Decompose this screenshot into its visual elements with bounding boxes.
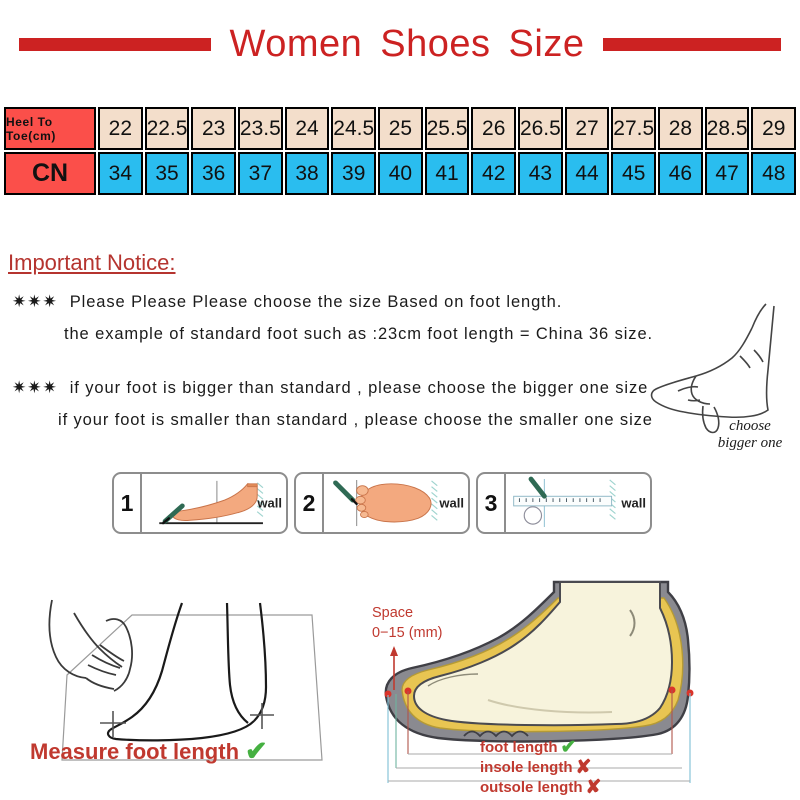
cell-cn-6: 40: [378, 152, 423, 195]
length-labels: foot length ✔ insole length ✘ outsole le…: [480, 738, 601, 798]
cell-cn-0: 34: [98, 152, 143, 195]
notice-line-1: ✷✷✷Please Please Please choose the size …: [12, 292, 653, 312]
measure-caption-text: Measure foot length: [30, 739, 239, 765]
cell-cn-11: 45: [611, 152, 656, 195]
label-foot-length-text: foot length: [480, 738, 557, 758]
label-outsole-length: outsole length ✘: [480, 778, 601, 798]
wall-label-1: wall: [257, 496, 282, 511]
cell-cm-1: 22.5: [145, 107, 190, 150]
cell-cm-12: 28: [658, 107, 703, 150]
cell-cn-10: 44: [565, 152, 610, 195]
space-label-line-2: 0−15 (mm): [372, 624, 443, 644]
notice-block-2: ✷✷✷if your foot is bigger than standard …: [12, 378, 653, 430]
step-number-3: 3: [478, 474, 506, 532]
cross-icon: ✘: [576, 758, 592, 777]
cell-cn-2: 36: [191, 152, 236, 195]
cell-cm-9: 26.5: [518, 107, 563, 150]
cell-cn-13: 47: [705, 152, 750, 195]
notice-line-4: if your foot is smaller than standard , …: [58, 411, 653, 430]
cell-cm-2: 23: [191, 107, 236, 150]
title-rule-left: [19, 38, 211, 51]
cell-cm-5: 24.5: [331, 107, 376, 150]
cell-cn-4: 38: [285, 152, 330, 195]
page-title-text: WomenShoesSize: [221, 23, 594, 66]
cell-cm-8: 26: [471, 107, 516, 150]
notice-text-3: if your foot is bigger than standard , p…: [70, 379, 648, 397]
step-number-2: 2: [296, 474, 324, 532]
foot-caption-line-1: choose: [690, 418, 800, 435]
foot-caption-line-2: bigger one: [690, 435, 800, 452]
title-word-2: Shoes: [380, 23, 490, 65]
label-insole-length-text: insole length: [480, 758, 573, 778]
row-label-cn: CN: [4, 152, 96, 195]
step-number-1: 1: [114, 474, 142, 532]
step-panel-1: 1 wall: [112, 472, 288, 534]
check-icon: ✔: [560, 738, 576, 757]
space-measurement-label: Space 0−15 (mm): [372, 604, 443, 643]
notice-block-1: ✷✷✷Please Please Please choose the size …: [12, 292, 653, 344]
notice-line-2: the example of standard foot such as :23…: [64, 325, 653, 344]
measure-foot-caption: Measure foot length ✔: [30, 738, 268, 765]
cell-cn-9: 43: [518, 152, 563, 195]
cell-cn-3: 37: [238, 152, 283, 195]
step-illustration-2: wall: [324, 474, 468, 532]
notice-text-1: Please Please Please choose the size Bas…: [70, 293, 563, 311]
cell-cn-7: 41: [425, 152, 470, 195]
cell-cm-10: 27: [565, 107, 610, 150]
label-foot-length: foot length ✔: [480, 738, 601, 758]
cell-cm-14: 29: [751, 107, 796, 150]
cell-cn-14: 48: [751, 152, 796, 195]
step-panel-3: 3: [476, 472, 652, 534]
measurement-steps: 1 wall 2: [112, 472, 652, 534]
cell-cn-5: 39: [331, 152, 376, 195]
step-panel-2: 2 wall: [294, 472, 470, 534]
table-row-cn: CN 34 35 36 37 38 39 40 41 42 43 44 45 4…: [4, 152, 796, 195]
wall-label-2: wall: [439, 496, 464, 511]
asterisk-marker: ✷✷✷: [12, 292, 58, 311]
cell-cm-7: 25.5: [425, 107, 470, 150]
cross-icon: ✘: [586, 778, 602, 797]
cell-cn-8: 42: [471, 152, 516, 195]
check-icon: ✔: [245, 738, 268, 765]
title-word-1: Women: [230, 23, 363, 65]
label-insole-length: insole length ✘: [480, 758, 601, 778]
page-title: WomenShoesSize: [0, 18, 800, 70]
title-word-3: Size: [509, 23, 585, 65]
title-rule-right: [603, 38, 781, 51]
cell-cm-0: 22: [98, 107, 143, 150]
foot-sketch-caption: choose bigger one: [690, 418, 800, 452]
cell-cm-13: 28.5: [705, 107, 750, 150]
label-outsole-length-text: outsole length: [480, 778, 583, 798]
cell-cm-4: 24: [285, 107, 330, 150]
step-illustration-1: wall: [142, 474, 286, 532]
cell-cm-3: 23.5: [238, 107, 283, 150]
cell-cn-1: 35: [145, 152, 190, 195]
row-label-heel-to-toe: Heel To Toe(cm): [4, 107, 96, 150]
important-notice-heading: Important Notice:: [8, 250, 176, 276]
cell-cm-11: 27.5: [611, 107, 656, 150]
notice-line-3: ✷✷✷if your foot is bigger than standard …: [12, 378, 653, 398]
cell-cm-6: 25: [378, 107, 423, 150]
asterisk-marker: ✷✷✷: [12, 378, 58, 397]
table-row-heel-to-toe: Heel To Toe(cm) 22 22.5 23 23.5 24 24.5 …: [4, 107, 796, 150]
wall-label-3: wall: [621, 496, 646, 511]
size-chart-table: Heel To Toe(cm) 22 22.5 23 23.5 24 24.5 …: [4, 107, 796, 195]
space-label-line-1: Space: [372, 604, 443, 624]
cell-cn-12: 46: [658, 152, 703, 195]
step-illustration-3: wall: [506, 474, 650, 532]
